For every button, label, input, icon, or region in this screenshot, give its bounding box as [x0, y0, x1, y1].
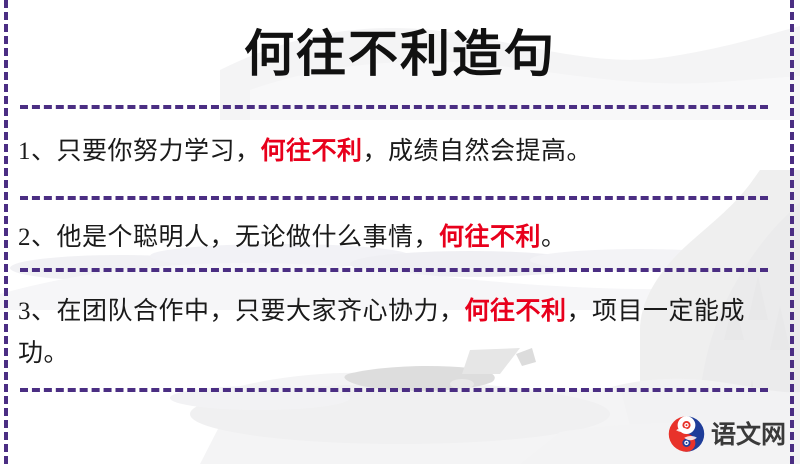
sentence-number: 1、 [18, 138, 57, 165]
sentence-text-after: ，成绩自然会提高。 [363, 138, 593, 165]
sentence-number: 3、 [18, 298, 57, 325]
sentence-text-before: 在团队合作中，只要大家齐心协力， [57, 298, 465, 325]
separator-3 [20, 388, 768, 392]
yinyang-fish-logo-icon [668, 415, 705, 453]
sentence-item: 3、在团队合作中，只要大家齐心协力，何往不利，项目一定能成功。 [18, 290, 780, 375]
sentence-number: 2、 [18, 224, 57, 251]
sentence-item: 2、他是个聪明人，无论做什么事情，何往不利。 [18, 216, 780, 259]
highlighted-idiom: 何往不利 [465, 296, 567, 325]
sentence-text-before: 只要你努力学习， [57, 138, 261, 165]
sentence-example-card: 何往不利造句 1、只要你努力学习，何往不利，成绩自然会提高。 2、他是个聪明人，… [0, 0, 800, 464]
sentence-text-after: 。 [541, 224, 567, 251]
separator-top [20, 105, 768, 109]
highlighted-idiom: 何往不利 [439, 222, 541, 251]
separator-1 [20, 196, 768, 200]
highlighted-idiom: 何往不利 [261, 136, 363, 165]
separator-2 [20, 268, 768, 272]
site-logo[interactable]: 语文网 [668, 414, 786, 454]
page-title: 何往不利造句 [0, 24, 800, 84]
sentence-text-before: 他是个聪明人，无论做什么事情， [57, 224, 440, 251]
sentence-item: 1、只要你努力学习，何往不利，成绩自然会提高。 [18, 130, 780, 173]
site-logo-text: 语文网 [711, 422, 786, 447]
